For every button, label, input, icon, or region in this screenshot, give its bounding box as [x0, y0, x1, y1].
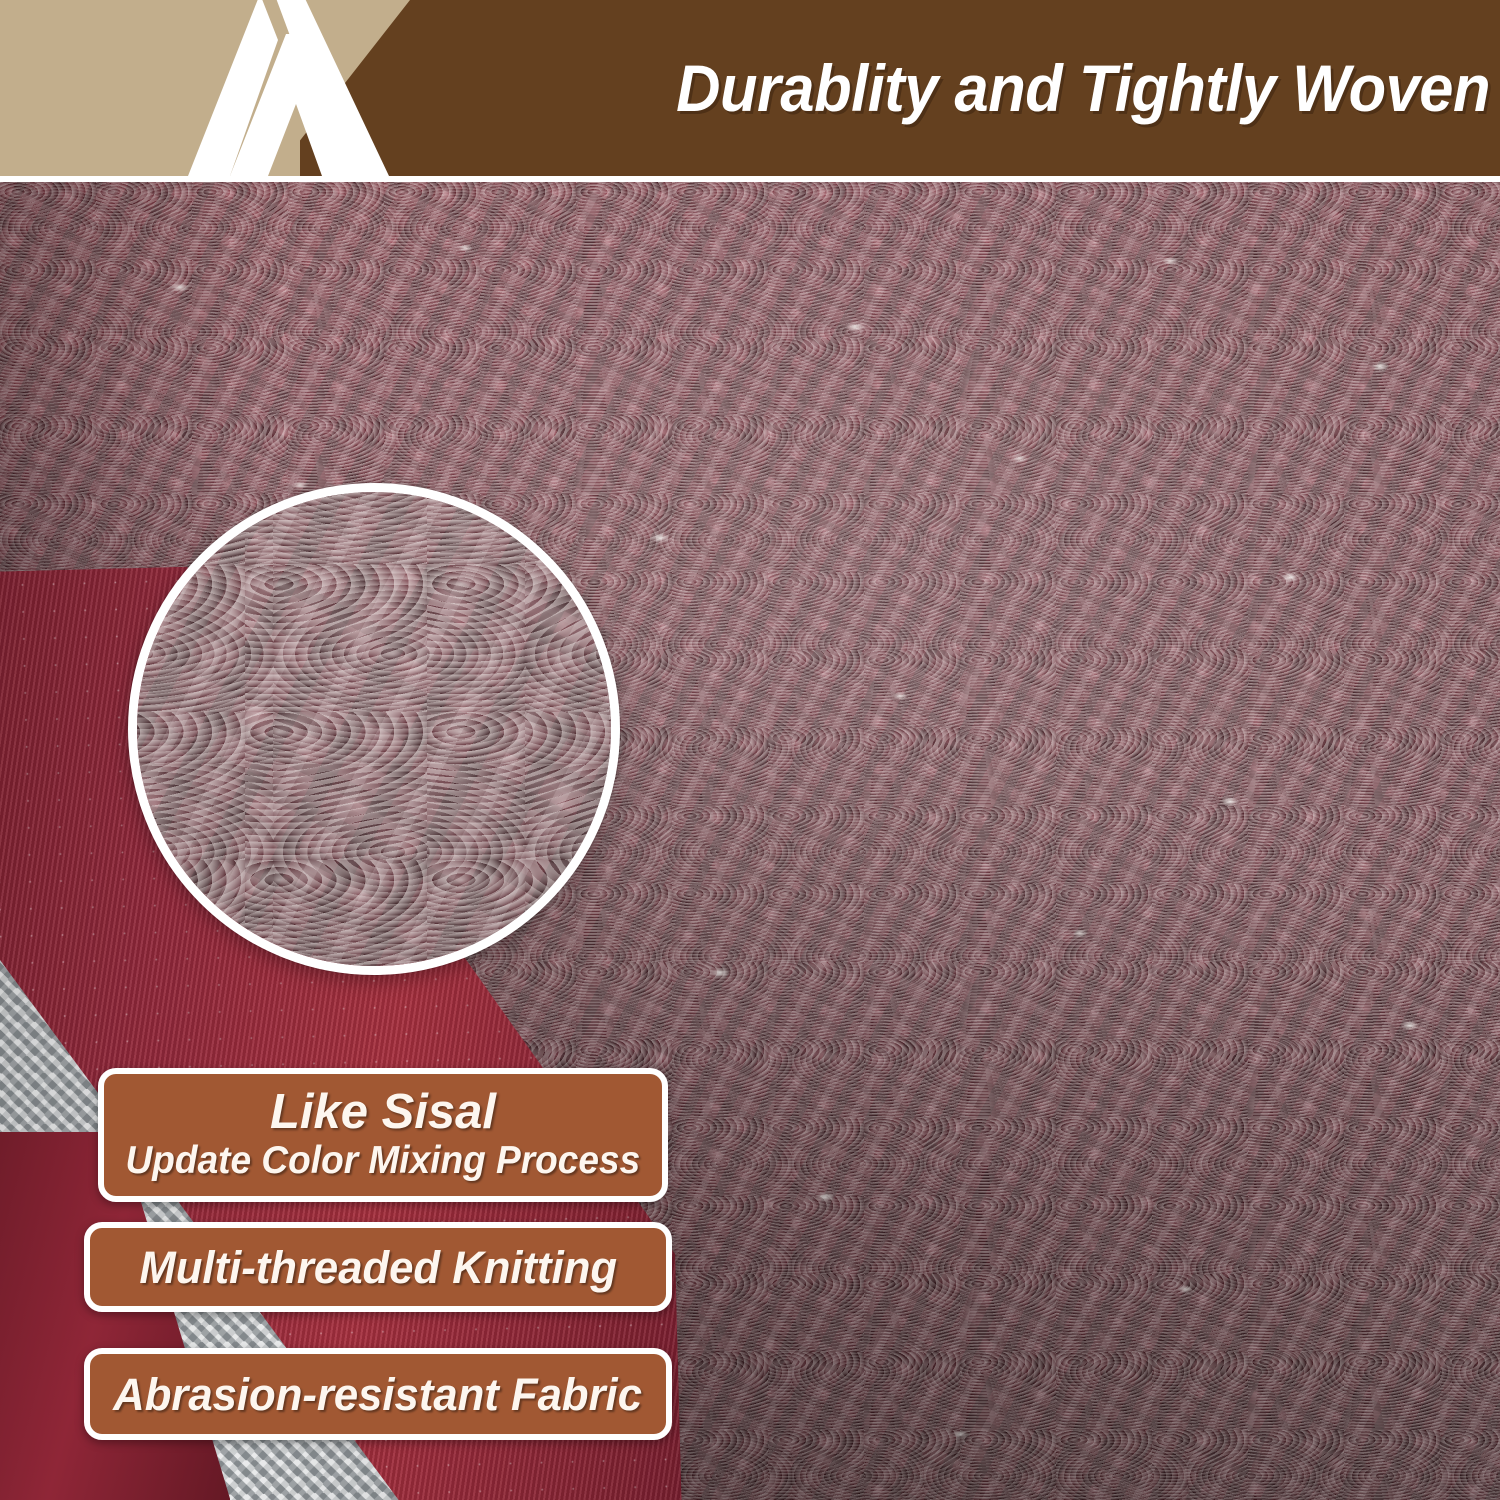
feature-badge-title: Multi-threaded Knitting	[139, 1245, 617, 1290]
feature-badge-list: Like Sisal Update Color Mixing Process M…	[0, 0, 1500, 1500]
feature-badge-subtitle: Update Color Mixing Process	[126, 1140, 641, 1182]
feature-badge-like-sisal: Like Sisal Update Color Mixing Process	[98, 1068, 668, 1202]
feature-badge-multi-threaded-knitting: Multi-threaded Knitting	[84, 1222, 672, 1312]
feature-badge-title: Abrasion-resistant Fabric	[114, 1372, 643, 1417]
product-feature-image: Durablity and Tightly Woven Like Sisal U…	[0, 0, 1500, 1500]
feature-badge-title: Like Sisal	[270, 1088, 496, 1138]
feature-badge-abrasion-resistant-fabric: Abrasion-resistant Fabric	[84, 1348, 672, 1440]
